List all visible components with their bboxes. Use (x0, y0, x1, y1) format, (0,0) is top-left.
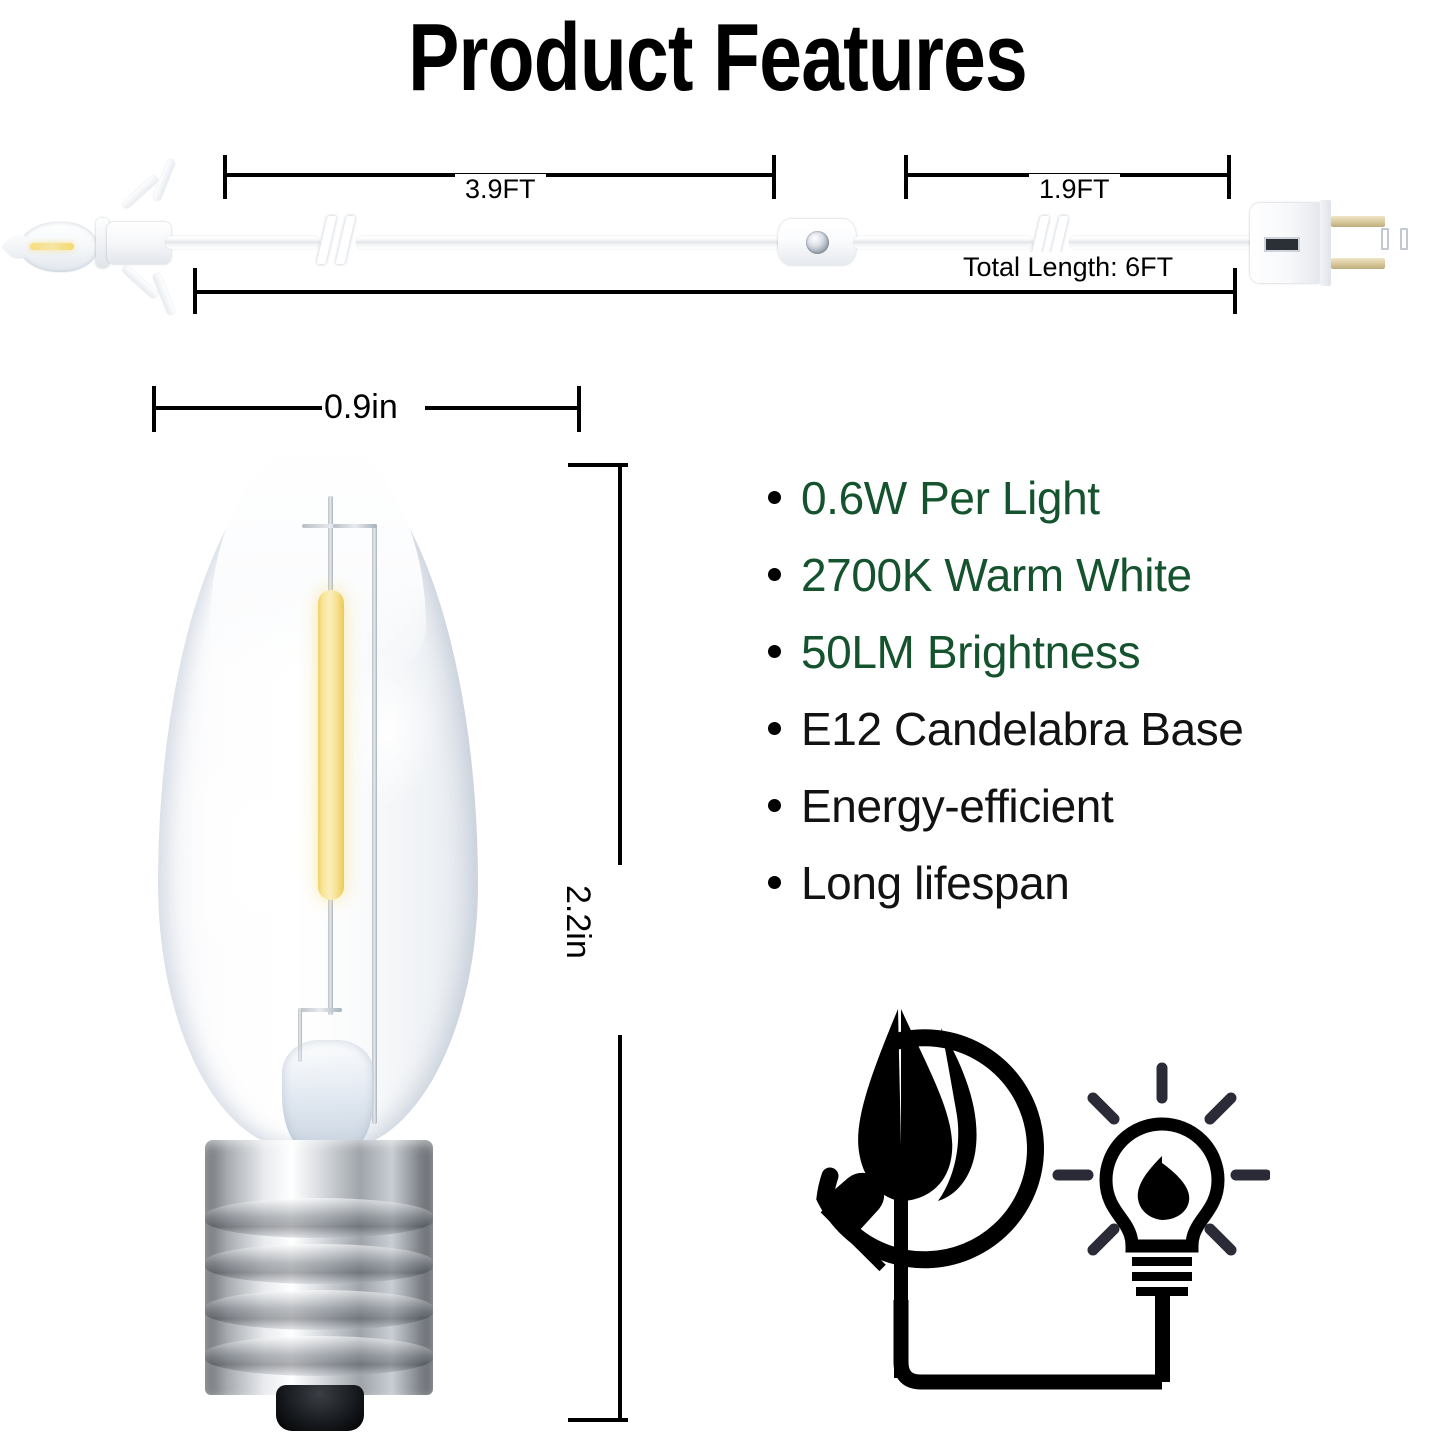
bulb-glass-stem (282, 1040, 374, 1150)
e12-screw-base (205, 1140, 433, 1395)
dim-tick-19ft-right (1227, 155, 1231, 199)
plug-outlet-slot-left (1381, 228, 1389, 250)
feature-label: 50LM Brightness (801, 614, 1140, 691)
base-thread-1 (205, 1198, 433, 1238)
bulb-support-wire-lower-bridge (298, 1008, 342, 1012)
dim-label-total-length: Total Length: 6FT (955, 252, 1181, 283)
bulb-support-wire-top-bridge (333, 524, 377, 528)
feature-item-3: E12 Candelabra Base (768, 691, 1368, 768)
dim-tick-total-right (1233, 268, 1237, 314)
bullet-dot-icon (768, 645, 781, 658)
bullet-dot-icon (768, 491, 781, 504)
bulb-support-wire-lower (328, 895, 333, 1015)
eco-energy-illustration (770, 1000, 1270, 1420)
dim-tick-width-right (577, 386, 581, 432)
cord-socket (107, 222, 171, 264)
feature-item-5: Long lifespan (768, 845, 1368, 922)
socket-hanging-clip-bottom (121, 264, 159, 299)
dim-line-height-lower (618, 1035, 622, 1422)
cord-wire-segment-1 (165, 236, 320, 249)
product-features-infographic: Product Features 3.9FT 1.9FT (0, 0, 1435, 1437)
dim-tick-39ft-right (772, 155, 776, 199)
bullet-dot-icon (768, 722, 781, 735)
dim-line-width-right (425, 406, 580, 410)
feature-item-0: 0.6W Per Light (768, 460, 1368, 537)
plug-prong-bottom (1331, 258, 1385, 269)
dim-tick-19ft-left (904, 155, 908, 199)
led-filament (318, 590, 344, 900)
bullet-dot-icon (768, 568, 781, 581)
feature-item-1: 2700K Warm White (768, 537, 1368, 614)
dim-tick-39ft-left (223, 155, 227, 199)
cord-wire-segment-4 (1069, 236, 1257, 249)
feature-label: Long lifespan (801, 845, 1069, 922)
socket-hanging-clip-top (121, 174, 159, 209)
cord-diagram: 3.9FT 1.9FT (0, 140, 1435, 340)
plug-outlet-slot-right (1400, 228, 1408, 250)
bulb-product-photo (150, 440, 490, 1437)
dim-line-width-left (152, 406, 322, 410)
eco-icon-group (770, 1000, 1270, 1420)
dim-label-height: 2.2in (558, 885, 598, 959)
light-bulb-with-leaves-icon (1058, 1068, 1266, 1382)
cord-wire-segment-3 (853, 236, 1033, 249)
base-contact-tip (276, 1385, 364, 1431)
base-thread-2 (205, 1244, 433, 1284)
bulb-support-wire-right (372, 524, 377, 1124)
feature-item-4: Energy-efficient (768, 768, 1368, 845)
dim-label-39ft: 3.9FT (455, 174, 546, 205)
dim-label-width: 0.9in (324, 386, 398, 428)
dim-label-19ft: 1.9FT (1029, 174, 1120, 205)
page-title: Product Features (144, 6, 1292, 110)
feature-label: Energy-efficient (801, 768, 1113, 845)
feature-label: E12 Candelabra Base (801, 691, 1244, 768)
bullet-dot-icon (768, 799, 781, 812)
cord-bulb-filament (30, 243, 74, 250)
feature-item-2: 50LM Brightness (768, 614, 1368, 691)
plug-prong-top (1331, 216, 1385, 227)
cord-break-mark-1b (335, 216, 355, 264)
dim-tick-height-bottom (568, 1418, 628, 1422)
plug-face-plate (1320, 200, 1331, 286)
two-prong-plug-body (1250, 203, 1322, 283)
feature-label: 2700K Warm White (801, 537, 1192, 614)
dim-line-height-upper (618, 463, 622, 865)
bullet-dot-icon (768, 876, 781, 889)
feature-label: 0.6W Per Light (801, 460, 1100, 537)
dim-line-total (193, 290, 1237, 294)
base-thread-3 (205, 1290, 433, 1330)
feature-list: 0.6W Per Light 2700K Warm White 50LM Bri… (768, 460, 1368, 922)
inline-rocker-switch[interactable] (778, 219, 856, 265)
cord-wire-segment-2 (356, 236, 780, 249)
base-thread-4 (205, 1336, 433, 1376)
